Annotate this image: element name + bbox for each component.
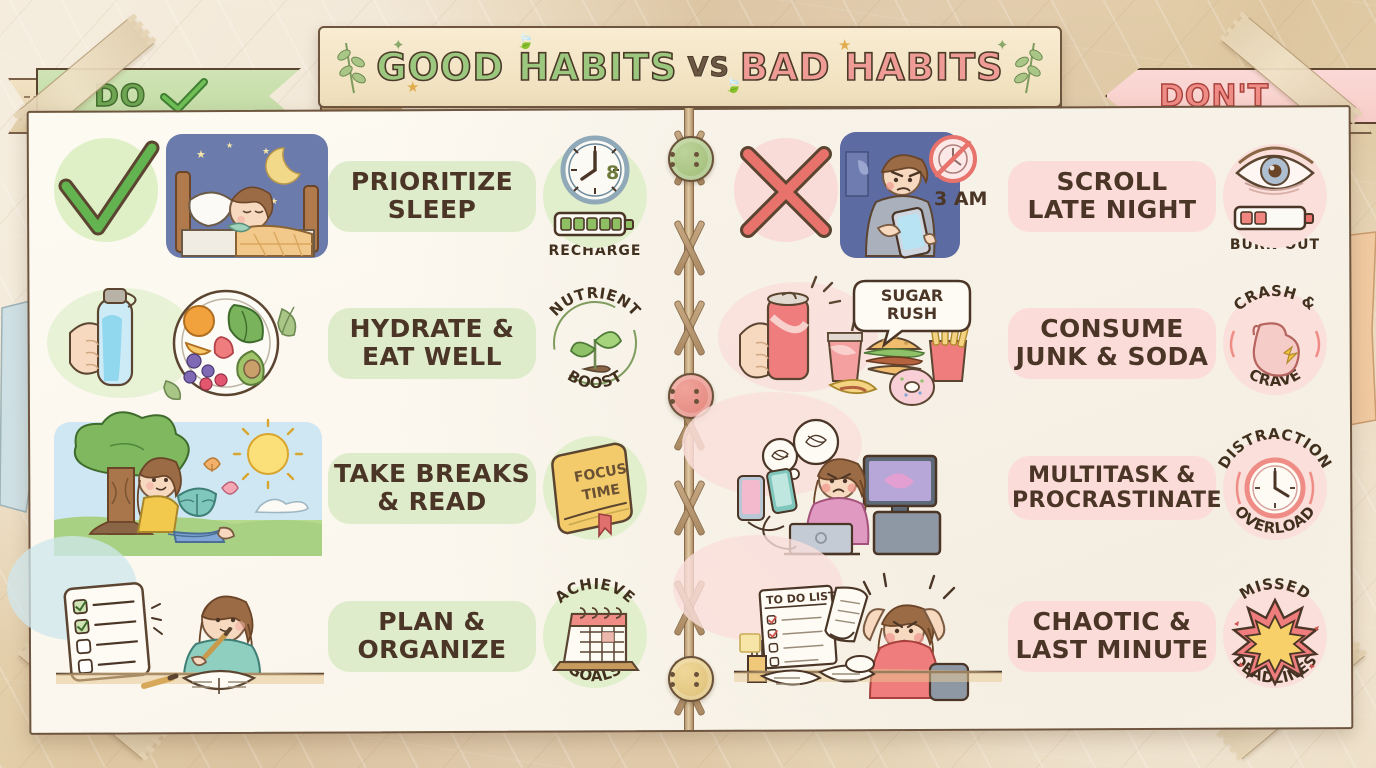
good-label-plan: PLAN &ORGANIZE [328,601,536,672]
good-art-sleep: ★★★★★ [48,130,328,262]
good-label-hydrate: HYDRATE &EAT WELL [328,308,536,379]
leaf-sprig-left-icon [340,39,366,95]
svg-text:8: 8 [606,162,619,184]
good-art-reading [48,422,328,554]
svg-text:★: ★ [196,149,206,161]
bad-label-scroll: SCROLLLATE NIGHT [1008,161,1216,232]
low-battery-icon [1233,203,1317,233]
sparkle-deco-icon: ✦ [392,36,405,54]
sleeping-girl-illustration: ★★★★★ [166,134,328,258]
good-art-hydrate [48,277,328,409]
messy-desk-panicking-girl-illustration: TO DO LIST [734,572,1002,700]
badge-caption-top: ACHIEVE [551,575,638,607]
spine-button-yellow[interactable] [668,656,714,702]
achieve-goals-badge: ACHIEVE GOALS [536,570,654,702]
check-icon [160,79,208,113]
red-cross-icon [738,144,834,240]
bad-row-multitask: MULTITASK &PROCRASTINATE DISTRACTION OVE… [728,418,1328,558]
green-checkmark-icon [56,142,160,242]
svg-text:★: ★ [226,141,233,150]
good-label-sleep: PRIORITIZESLEEP [328,161,536,232]
good-habits-column: ★★★★★ PRIORITIZESLEEP [48,118,648,718]
bad-label-junk: CONSUMEJUNK & SODA [1008,308,1216,379]
full-battery-icon [553,209,637,239]
svg-text:★: ★ [262,146,270,156]
good-row-hydrate: HYDRATE &EAT WELL NUTRIENT BOOST [48,273,648,413]
nutrient-boost-badge: NUTRIENT BOOST [536,277,654,409]
crash-crave-badge: CRASH & CRAVE [1216,277,1334,409]
good-row-sleep: ★★★★★ PRIORITIZESLEEP [48,126,648,266]
bad-row-chaotic: TO DO LIST [728,566,1328,706]
book-icon: FOCUS TIME [545,438,645,538]
checklist-and-girl-writing-illustration [56,574,324,702]
title-good-habits: GOOD HABITS [376,46,677,89]
badge-caption-top: CRASH & [1230,282,1320,314]
distraction-overload-badge: DISTRACTION OVERLOAD [1216,422,1334,554]
good-badge-goals: ACHIEVE GOALS [536,570,654,702]
bad-art-multitask [728,422,1008,554]
no-clock-icon [926,132,980,186]
water-bottle-and-plate-illustration [66,285,316,405]
clock-icon: 8 [558,133,632,207]
bad-art-junk: SUGARRUSH [728,277,1008,409]
bad-label-chaotic: CHAOTIC &LAST MINUTE [1008,601,1216,672]
leaf-sprig-right-icon [1014,39,1040,95]
stressed-multitasking-illustration [732,422,1000,554]
star-deco-icon: ★ [838,36,851,54]
badge-caption-top: NUTRIENT [546,284,645,320]
bad-badge-burnout: BURN OUT [1216,130,1334,262]
bad-badge-distraction: DISTRACTION OVERLOAD [1216,422,1334,554]
spine-button-green[interactable] [668,136,714,182]
bad-habits-column: 3 AM SCROLLLATE NIGHT B [728,118,1328,718]
bad-row-scroll: 3 AM SCROLLLATE NIGHT B [728,126,1328,266]
bad-art-chaotic: TO DO LIST [728,570,1008,702]
girl-reading-under-tree-illustration [54,422,322,554]
good-badge-focus: FOCUS TIME [536,422,654,554]
leaf-deco-icon: 🍃 [516,32,535,50]
tired-eye-icon [1229,139,1321,201]
good-row-plan: PLAN &ORGANIZE ACHIEVE GOALS [48,566,648,706]
good-label-breaks: TAKE BREAKS& READ [328,453,536,524]
sparkle-deco-icon: ✦ [996,36,1009,54]
good-art-planning [48,570,328,702]
good-row-breaks: TAKE BREAKS& READ FOCUS TIME [48,418,648,558]
time-label-3am: 3 AM [934,188,987,210]
bubble-text: SUGARRUSH [858,287,966,322]
bad-badge-crash: CRASH & CRAVE [1216,277,1334,409]
title-bad-habits: BAD HABITS [740,46,1004,89]
missed-deadlines-badge: MISSED DEADLINES [1216,570,1334,702]
bad-art-scroll: 3 AM [728,130,1008,262]
star-deco-icon: ★ [406,78,419,96]
good-badge-nutrient: NUTRIENT BOOST [536,277,654,409]
bad-label-multitask: MULTITASK &PROCRASTINATE [1008,456,1216,520]
svg-text:CRASH &: CRASH & [1230,282,1320,314]
good-badge-recharge: 8 RECHARGE [536,130,654,262]
svg-text:ACHIEVE: ACHIEVE [551,575,638,607]
leaf-deco-icon: 🍃 [724,76,743,94]
svg-text:NUTRIENT: NUTRIENT [546,284,645,320]
bad-badge-missed: MISSED DEADLINES [1216,570,1334,702]
bad-row-junk: SUGARRUSH CONSUMEJUNK & SODA CRASH & CRA… [728,273,1328,413]
